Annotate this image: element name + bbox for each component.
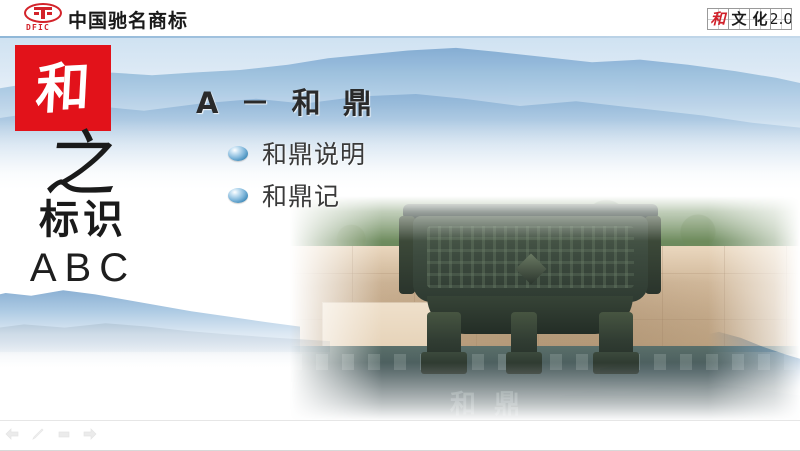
back-arrow-icon[interactable] xyxy=(4,427,26,445)
ding-leg-right xyxy=(599,312,633,374)
seal-glyph-he: 和 xyxy=(34,60,91,117)
ding-center-boss xyxy=(515,253,546,284)
list-item[interactable]: 和鼎记 xyxy=(228,174,366,216)
brand-title: 中国驰名商标 xyxy=(68,6,188,33)
list-item-label[interactable]: 和鼎说明 xyxy=(262,135,366,171)
bullet-sphere-icon xyxy=(228,146,248,161)
version-number: 2.0 xyxy=(770,10,792,28)
logo-inner-glyph xyxy=(34,7,52,19)
ding-body-taotie-pattern xyxy=(413,216,648,302)
version-cell-number: 2.0 xyxy=(770,8,792,30)
version-badge-grid: 和 文 化 2.0 xyxy=(708,8,792,30)
photo-plinth-inscription: 和鼎 xyxy=(450,384,650,414)
version-cell-hua: 化 xyxy=(749,8,771,30)
presentation-slide: 和鼎 DFIC 中国驰名商标 和 文 xyxy=(0,0,800,451)
logo-wordmark: DFIC xyxy=(26,23,50,32)
version-glyph-he: 和 xyxy=(710,12,725,27)
list-item[interactable]: 和鼎说明 xyxy=(228,132,366,174)
sidebar-label-abc: ABC xyxy=(18,248,148,288)
he-seal-stamp: 和 xyxy=(18,48,108,128)
page-title: A － 和 鼎 xyxy=(196,80,378,122)
version-cell-wen: 文 xyxy=(728,8,750,30)
ding-leg-center xyxy=(511,312,537,374)
list-item-label[interactable]: 和鼎记 xyxy=(262,177,340,213)
bottom-toolbar xyxy=(0,420,800,451)
version-glyph-wen: 文 xyxy=(731,12,746,27)
dfic-logo-icon: DFIC xyxy=(24,3,62,33)
ding-leg-left xyxy=(427,312,461,374)
version-glyph-hua: 化 xyxy=(752,12,767,27)
bullet-sphere-icon xyxy=(228,188,248,203)
page-header: DFIC 中国驰名商标 和 文 化 2.0 xyxy=(0,0,800,36)
bronze-ding-vessel xyxy=(385,204,675,376)
rectangle-icon[interactable] xyxy=(56,427,78,445)
pen-icon[interactable] xyxy=(30,427,52,445)
sidebar-glyph-zhi: 之 xyxy=(23,128,143,200)
bronze-ding-photo: 和鼎 xyxy=(290,196,800,421)
bullet-list: 和鼎说明 和鼎记 xyxy=(228,132,366,216)
sidebar-label-biaoshi: 标识 xyxy=(18,200,148,240)
version-cell-he: 和 xyxy=(707,8,729,30)
forward-arrow-icon[interactable] xyxy=(82,427,104,445)
header-divider xyxy=(0,36,800,38)
